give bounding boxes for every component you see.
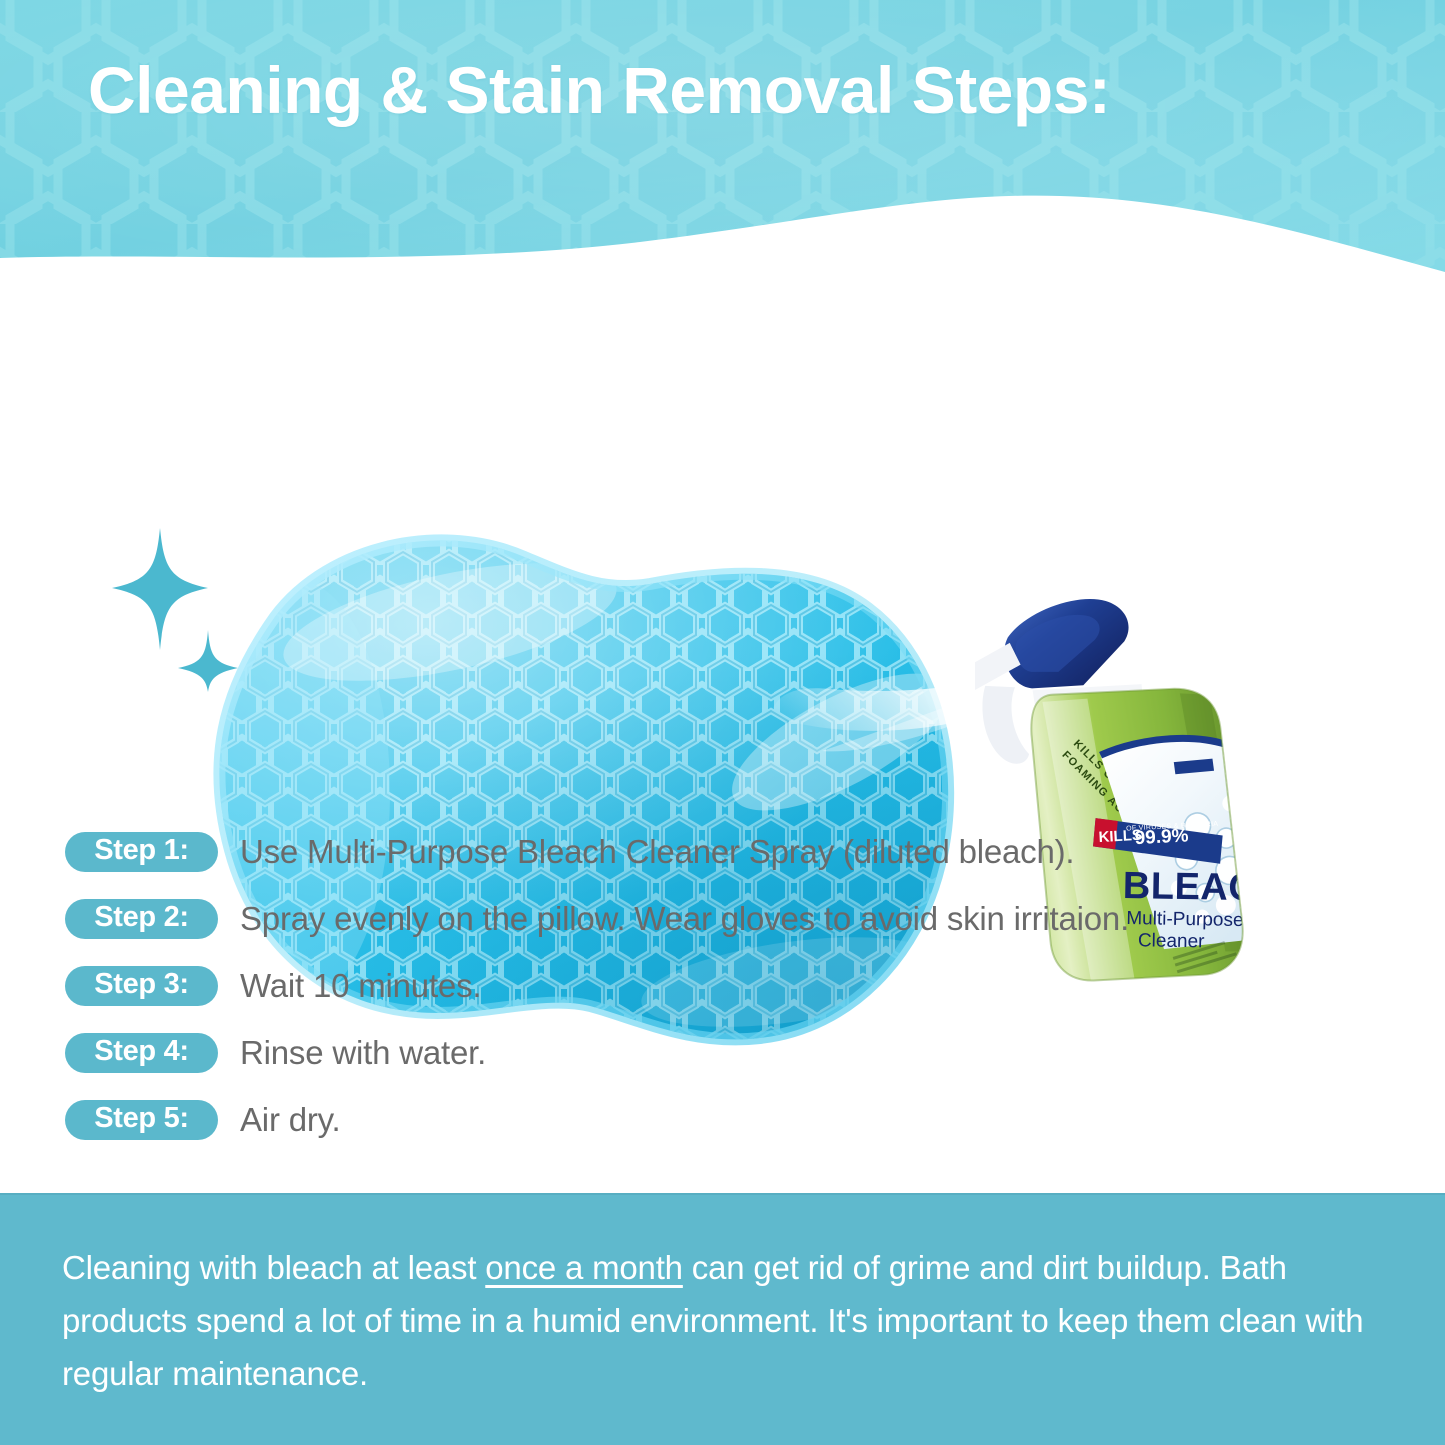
step-text-2: Spray evenly on the pillow. Wear gloves … (240, 900, 1129, 938)
page-title: Cleaning & Stain Removal Steps: (88, 52, 1110, 128)
step-text-1: Use Multi-Purpose Bleach Cleaner Spray (… (240, 833, 1074, 871)
steps-list: Step 1: Use Multi-Purpose Bleach Cleaner… (0, 818, 1445, 1153)
step-row: Step 1: Use Multi-Purpose Bleach Cleaner… (0, 818, 1445, 885)
step-badge-2: Step 2: (65, 899, 218, 939)
step-badge-5: Step 5: (65, 1100, 218, 1140)
step-badge-3: Step 3: (65, 966, 218, 1006)
step-row: Step 2: Spray evenly on the pillow. Wear… (0, 885, 1445, 952)
step-badge-1: Step 1: (65, 832, 218, 872)
footer-paragraph: Cleaning with bleach at least once a mon… (62, 1241, 1382, 1400)
footer-emphasis: once a month (485, 1249, 683, 1286)
footer-banner: Cleaning with bleach at least once a mon… (0, 1193, 1445, 1445)
step-row: Step 5: Air dry. (0, 1086, 1445, 1153)
step-row: Step 3: Wait 10 minutes. (0, 952, 1445, 1019)
step-badge-4: Step 4: (65, 1033, 218, 1073)
step-text-5: Air dry. (240, 1101, 340, 1139)
hero-illustration: KILLS GERMS* FOAMING ACTION (0, 250, 1445, 820)
footer-text-part1: Cleaning with bleach at least (62, 1249, 485, 1286)
infographic-page: Cleaning & Stain Removal Steps: (0, 0, 1445, 1445)
step-text-3: Wait 10 minutes. (240, 967, 481, 1005)
step-row: Step 4: Rinse with water. (0, 1019, 1445, 1086)
step-text-4: Rinse with water. (240, 1034, 486, 1072)
